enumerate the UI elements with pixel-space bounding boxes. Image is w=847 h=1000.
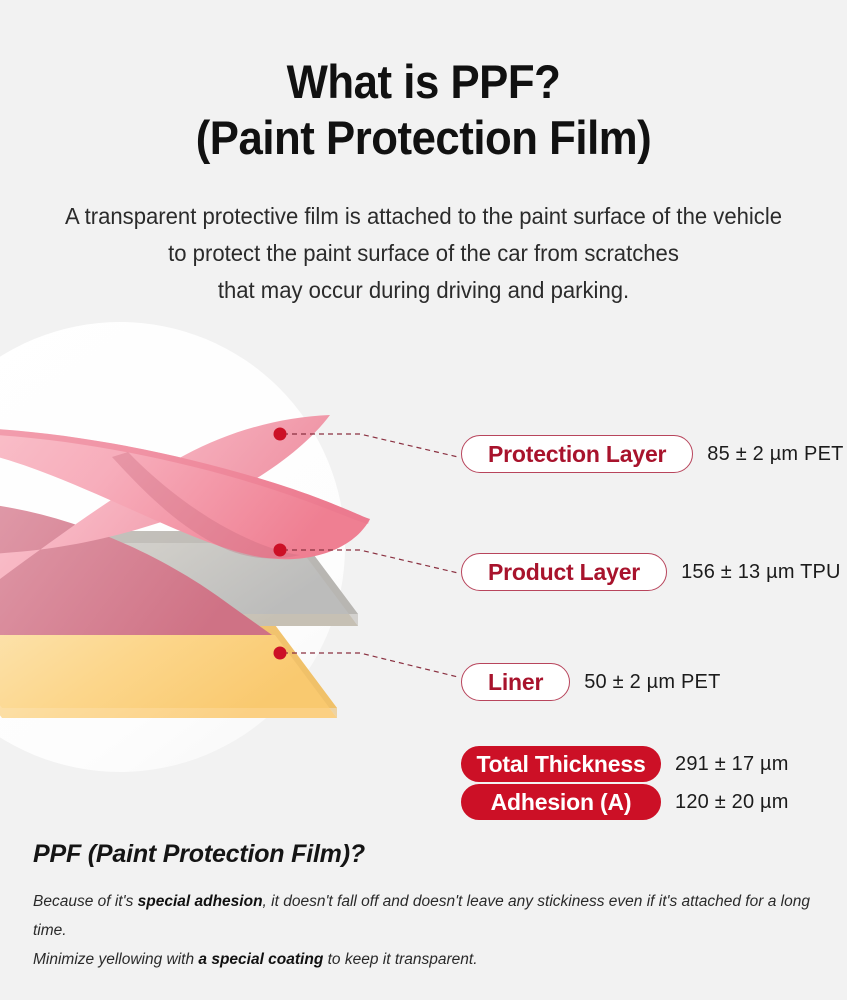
spec-protection-layer: 85 ± 2 µm PET [707,443,843,466]
badge-total-thickness[interactable]: Total Thickness [461,746,661,782]
callout-adhesion: Adhesion (A) 120 ± 20 µm [461,784,789,820]
spec-adhesion: 120 ± 20 µm [675,791,789,814]
badge-protection-layer[interactable]: Protection Layer [461,435,693,473]
footer-line-1-emphasis: special adhesion [138,893,263,910]
callout-protection-layer: Protection Layer 85 ± 2 µm PET [461,435,844,473]
footer-line-2-emphasis: a special coating [198,951,323,968]
ppf-layer-illustration [0,305,500,805]
subtitle-line-2: to protect the paint surface of the car … [25,235,821,272]
infographic-page: What is PPF? (Paint Protection Film) A t… [0,0,847,1000]
badge-product-layer[interactable]: Product Layer [461,553,667,591]
callout-total-thickness: Total Thickness 291 ± 17 µm [461,746,789,782]
marker-dot-protection [274,428,287,441]
title-line-2: (Paint Protection Film) [30,110,818,166]
subtitle-line-3: that may occur during driving and parkin… [25,272,821,309]
page-title: What is PPF? (Paint Protection Film) [0,54,847,166]
footer-line-2: Minimize yellowing with a special coatin… [33,945,823,974]
marker-dot-product [274,544,287,557]
badge-liner-layer[interactable]: Liner [461,663,570,701]
page-subtitle: A transparent protective film is attache… [0,198,847,309]
callout-product-layer: Product Layer 156 ± 13 µm TPU [461,553,841,591]
footer-line-2-part-2: to keep it transparent. [323,951,477,968]
footer-note: PPF (Paint Protection Film)? Because of … [33,840,823,974]
spec-product-layer: 156 ± 13 µm TPU [681,561,841,584]
footer-line-1-part-1: Because of it's [33,893,138,910]
footer-line-1: Because of it's special adhesion, it doe… [33,887,823,945]
spec-liner-layer: 50 ± 2 µm PET [584,671,720,694]
badge-adhesion[interactable]: Adhesion (A) [461,784,661,820]
footer-heading: PPF (Paint Protection Film)? [33,840,823,869]
spec-total-thickness: 291 ± 17 µm [675,753,789,776]
callout-liner-layer: Liner 50 ± 2 µm PET [461,663,721,701]
marker-dot-liner [274,647,287,660]
title-line-1: What is PPF? [30,54,818,110]
footer-line-2-part-1: Minimize yellowing with [33,951,198,968]
subtitle-line-1: A transparent protective film is attache… [25,198,821,235]
